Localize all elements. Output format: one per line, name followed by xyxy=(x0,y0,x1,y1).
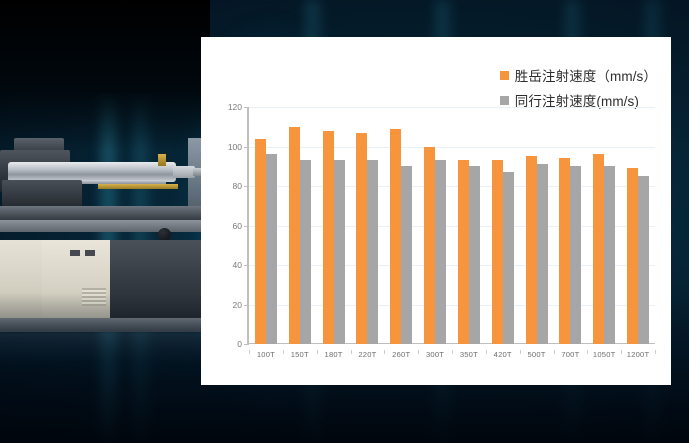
y-axis-tick-label: 20 xyxy=(233,300,242,310)
bar xyxy=(323,131,334,344)
y-axis-tick-label: 120 xyxy=(228,102,242,112)
y-axis-tick-mark xyxy=(244,147,248,148)
bar-group xyxy=(249,107,283,344)
x-axis-tick-label: 420T xyxy=(486,350,520,359)
bar-group xyxy=(350,107,384,344)
bar xyxy=(266,154,277,344)
y-axis-tick-label: 60 xyxy=(233,221,242,231)
bar xyxy=(435,160,446,344)
x-axis-tick-mark xyxy=(384,350,385,354)
y-axis-tick-mark xyxy=(244,226,248,227)
legend-swatch-icon xyxy=(500,96,509,105)
bar xyxy=(604,166,615,344)
bar-group xyxy=(520,107,554,344)
bar-group xyxy=(452,107,486,344)
x-axis-tick-label: 180T xyxy=(317,350,351,359)
y-axis-tick-label: 100 xyxy=(228,142,242,152)
y-axis-tick-label: 80 xyxy=(233,181,242,191)
x-axis-tick-label: 260T xyxy=(384,350,418,359)
y-axis-tick-mark xyxy=(244,305,248,306)
y-axis-tick-mark xyxy=(244,107,248,108)
bar xyxy=(570,166,581,344)
bar-series-container xyxy=(249,107,655,344)
x-axis-tick-label: 300T xyxy=(418,350,452,359)
machine-panel-button xyxy=(70,250,80,256)
x-axis-tick-mark xyxy=(587,350,588,354)
x-axis-tick-mark xyxy=(351,350,352,354)
bar xyxy=(255,139,266,344)
x-axis-tick-mark xyxy=(317,350,318,354)
bar-group xyxy=(418,107,452,344)
machine-fitting xyxy=(158,154,166,166)
bar-group xyxy=(587,107,621,344)
x-axis-tick-mark xyxy=(249,350,250,354)
slide-stage: 胜岳注射速度（mm/s） 同行注射速度(mm/s) 02040608010012… xyxy=(0,0,689,443)
bar xyxy=(424,147,435,345)
bar xyxy=(390,129,401,344)
x-axis-tick-mark xyxy=(621,350,622,354)
bar xyxy=(503,172,514,344)
bar-group xyxy=(553,107,587,344)
chart-legend: 胜岳注射速度（mm/s） 同行注射速度(mm/s) xyxy=(500,65,657,110)
bar xyxy=(356,133,367,344)
y-axis-tick-label: 0 xyxy=(237,339,242,349)
bar xyxy=(593,154,604,344)
x-axis-tick-label: 700T xyxy=(553,350,587,359)
bar-group xyxy=(621,107,655,344)
machine-hydraulic-line xyxy=(98,184,178,189)
bar-group xyxy=(384,107,418,344)
x-axis-tick-mark xyxy=(554,350,555,354)
x-axis-tick-label: 100T xyxy=(249,350,283,359)
bar-group xyxy=(486,107,520,344)
bar xyxy=(334,160,345,344)
y-axis-tick-mark xyxy=(244,186,248,187)
x-axis-tick-mark xyxy=(418,350,419,354)
bar-group xyxy=(317,107,351,344)
x-axis-tick-mark xyxy=(283,350,284,354)
bar xyxy=(401,166,412,344)
bar xyxy=(627,168,638,344)
bar xyxy=(638,176,649,344)
bar xyxy=(469,166,480,344)
bar xyxy=(300,160,311,344)
y-axis-tick-label: 40 xyxy=(233,260,242,270)
machine-platform xyxy=(0,220,215,232)
legend-item-series-0: 胜岳注射速度（mm/s） xyxy=(500,65,657,85)
x-axis-tick-label: 500T xyxy=(520,350,554,359)
bar xyxy=(559,158,570,344)
plot-area: 020406080100120 xyxy=(249,107,655,344)
legend-swatch-icon xyxy=(500,71,509,80)
machine-nozzle xyxy=(173,166,195,178)
y-axis-tick-mark xyxy=(244,344,248,345)
bar xyxy=(537,164,548,344)
x-axis-tick-label: 150T xyxy=(283,350,317,359)
bar-group xyxy=(283,107,317,344)
machine-barrel xyxy=(8,162,176,182)
bar xyxy=(289,127,300,344)
bar xyxy=(526,156,537,344)
legend-label-series-0: 胜岳注射速度（mm/s） xyxy=(515,65,657,85)
x-axis-tick-mark xyxy=(520,350,521,354)
x-axis-tick-label: 1050T xyxy=(587,350,621,359)
machine-carriage xyxy=(2,180,82,206)
chart-panel: 胜岳注射速度（mm/s） 同行注射速度(mm/s) 02040608010012… xyxy=(201,37,671,385)
machine-rail xyxy=(0,206,215,220)
x-axis-tick-label: 350T xyxy=(452,350,486,359)
x-axis-tick-label: 220T xyxy=(350,350,384,359)
x-axis-tick-mark xyxy=(452,350,453,354)
x-axis-labels: 100T150T180T220T260T300T350T420T500T700T… xyxy=(249,350,655,359)
x-axis-tick-mark xyxy=(655,350,656,354)
bar xyxy=(458,160,469,344)
bar xyxy=(492,160,503,344)
machine-panel-button xyxy=(85,250,95,256)
y-axis-tick-mark xyxy=(244,265,248,266)
x-axis-tick-label: 1200T xyxy=(621,350,655,359)
bar xyxy=(367,160,378,344)
x-axis-tick-mark xyxy=(486,350,487,354)
